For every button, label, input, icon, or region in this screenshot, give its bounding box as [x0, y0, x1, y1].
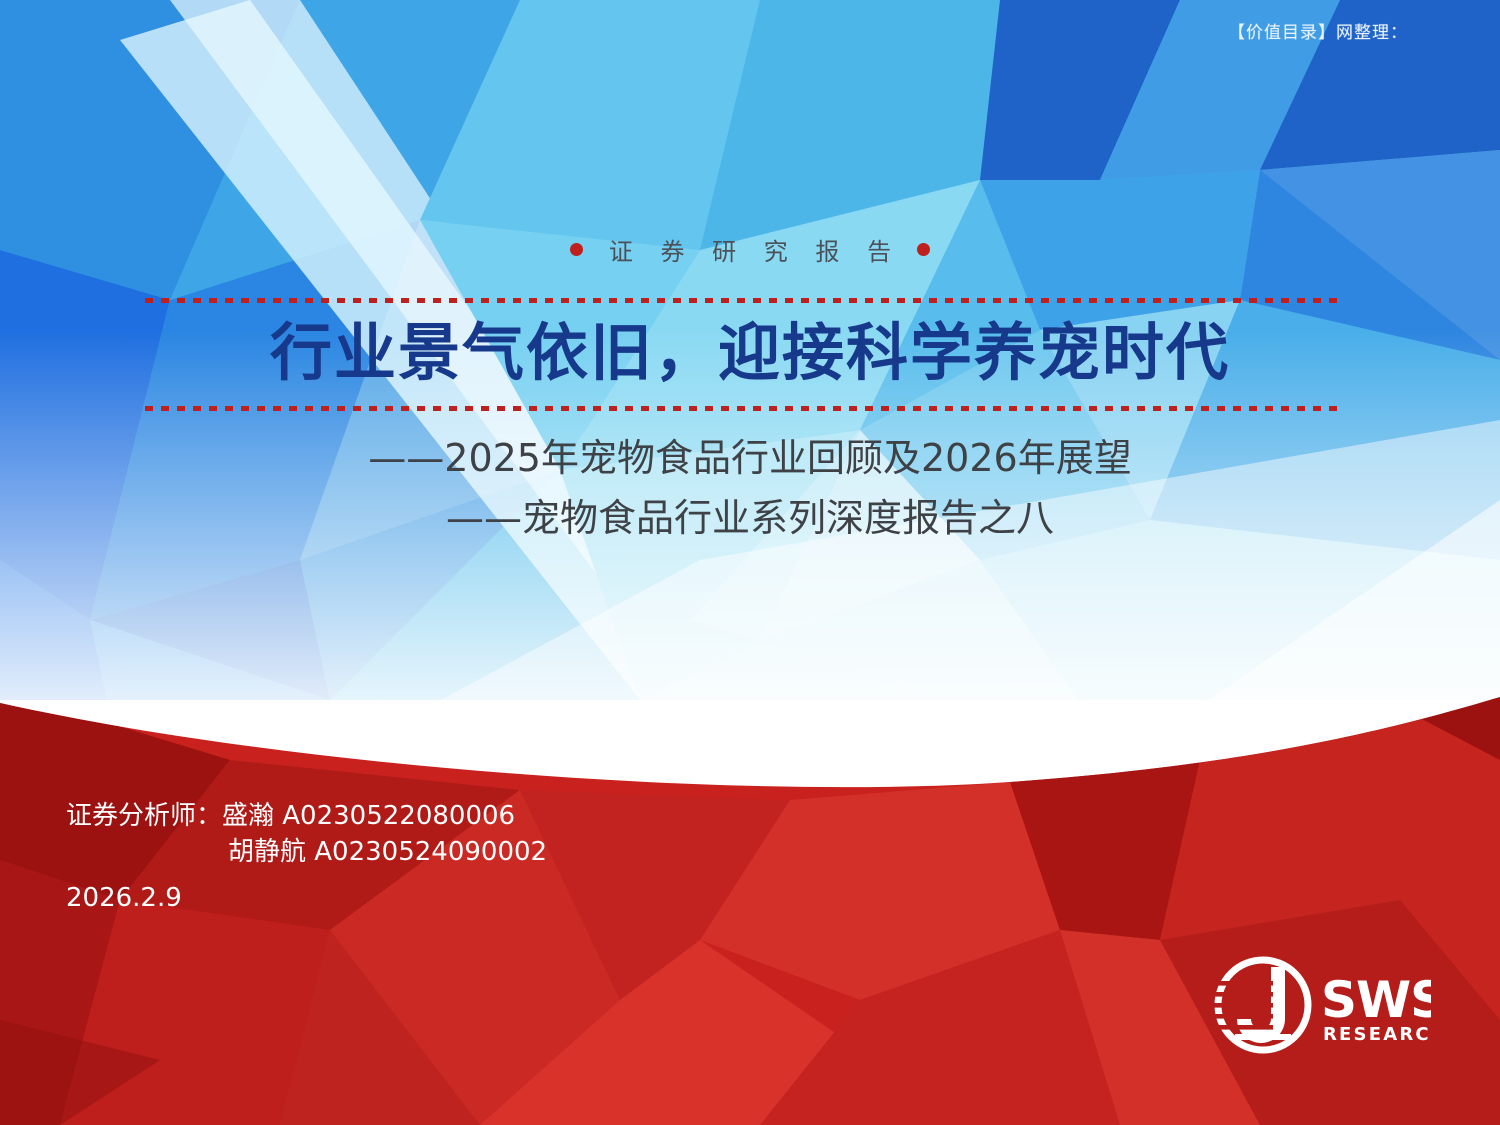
analyst-line-2: 胡静航 A0230524090002: [228, 834, 547, 870]
title-slide: 【价值目录】网整理： 证 券 研 究 报 告 行业景气依旧，迎接科学养宠时代 —…: [0, 0, 1500, 1125]
dotted-rule-bottom: [145, 406, 1341, 411]
report-date: 2026.2.9: [66, 880, 547, 916]
sws-wordmark: SWS: [1321, 971, 1431, 1029]
page-title: 行业景气依旧，迎接科学养宠时代: [0, 313, 1500, 393]
page-subtitle-2: ——宠物食品行业系列深度报告之八: [0, 494, 1500, 542]
sws-logo-svg: SWS RESEARCH: [1213, 955, 1431, 1055]
sws-mark-icon: [1218, 960, 1308, 1050]
analyst-block: 证券分析师：盛瀚 A0230522080006 胡静航 A02305240900…: [66, 798, 547, 916]
dotted-rule-top: [145, 298, 1341, 303]
sws-tagline: RESEARCH: [1323, 1024, 1431, 1045]
page-subtitle-1: ——2025年宠物食品行业回顾及2026年展望: [0, 434, 1500, 482]
watermark-text: 【价值目录】网整理：: [1228, 18, 1408, 43]
sws-logo: SWS RESEARCH: [1213, 955, 1431, 1055]
analyst-line-1: 证券分析师：盛瀚 A0230522080006: [66, 801, 515, 831]
